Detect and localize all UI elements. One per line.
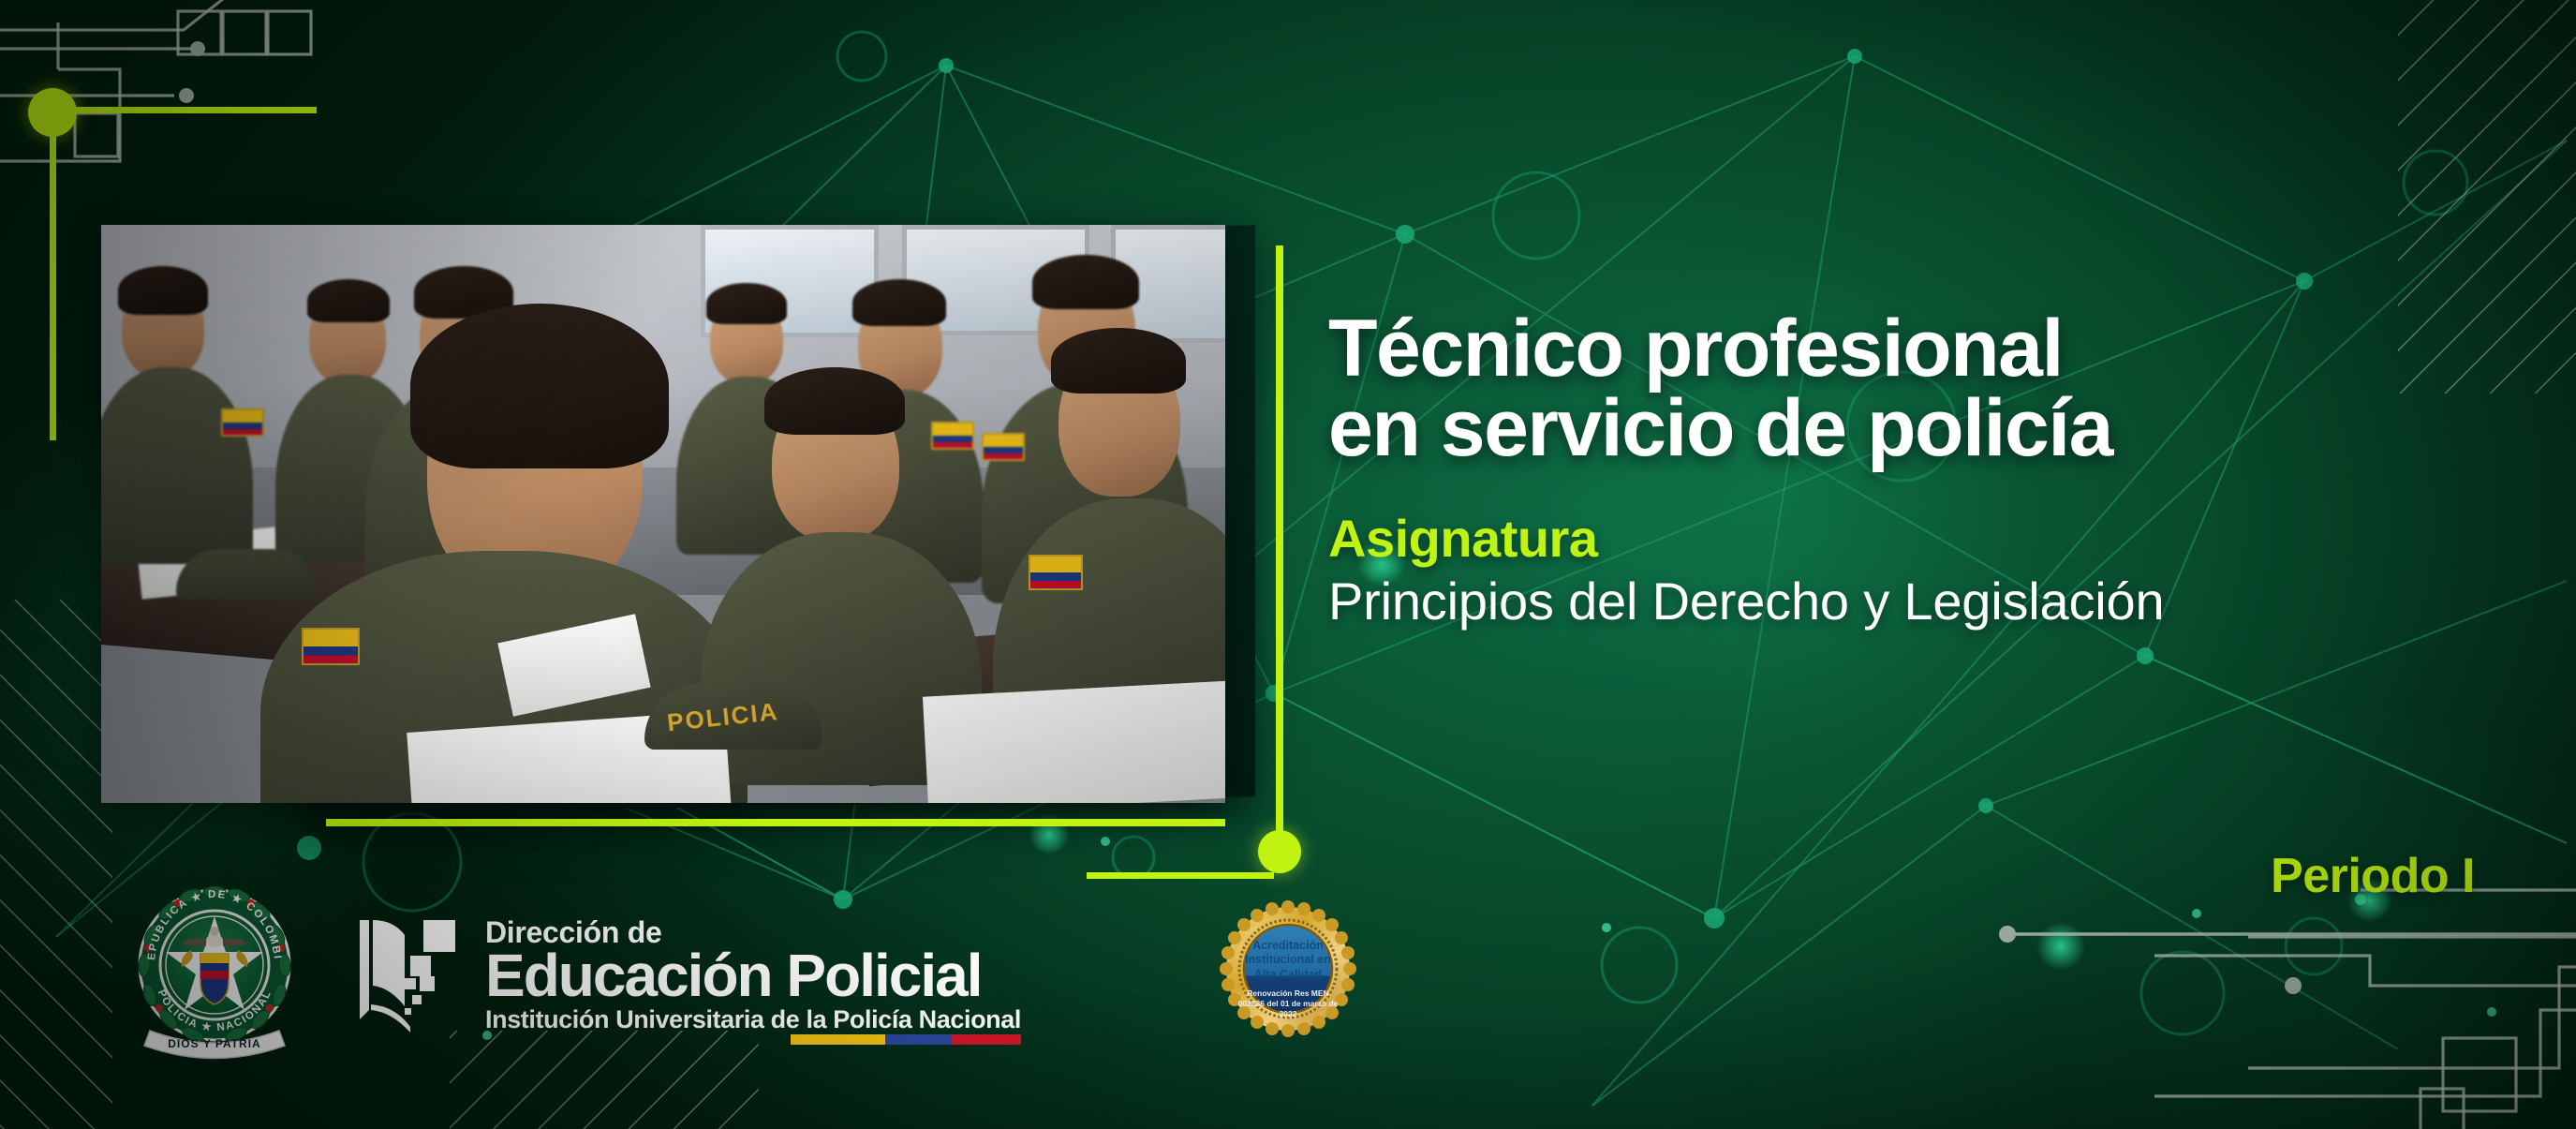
course-banner: POLICIA Técnico profesional en servicio … [0,0,2576,1129]
